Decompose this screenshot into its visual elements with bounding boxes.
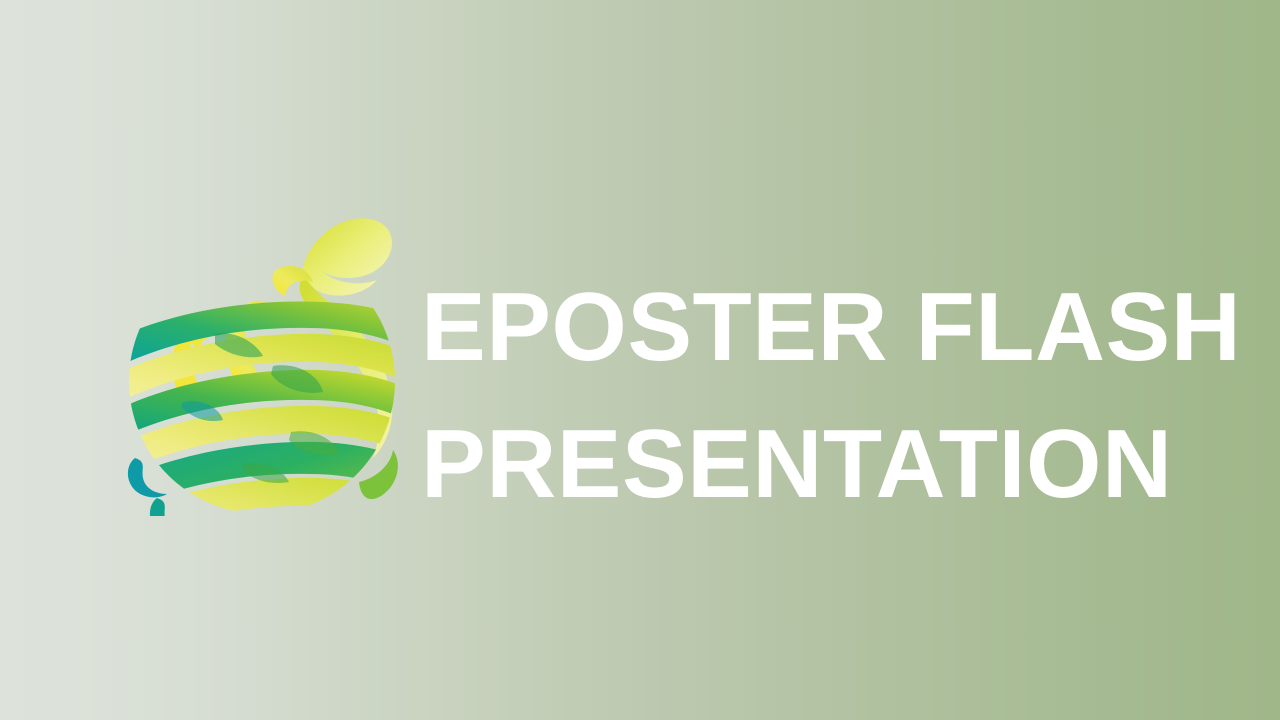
title-line-1: EPOSTER FLASH [421,258,1221,395]
title-line-2: PRESENTATION [421,395,1221,532]
globe-ribbon-logo [123,206,401,516]
logo-curl-left-2 [150,498,189,516]
logo-leaf [301,218,392,295]
logo-curl-left-1 [128,458,167,497]
presentation-slide: EPOSTER FLASH PRESENTATION [0,0,1280,720]
slide-title: EPOSTER FLASH PRESENTATION [421,258,1221,532]
